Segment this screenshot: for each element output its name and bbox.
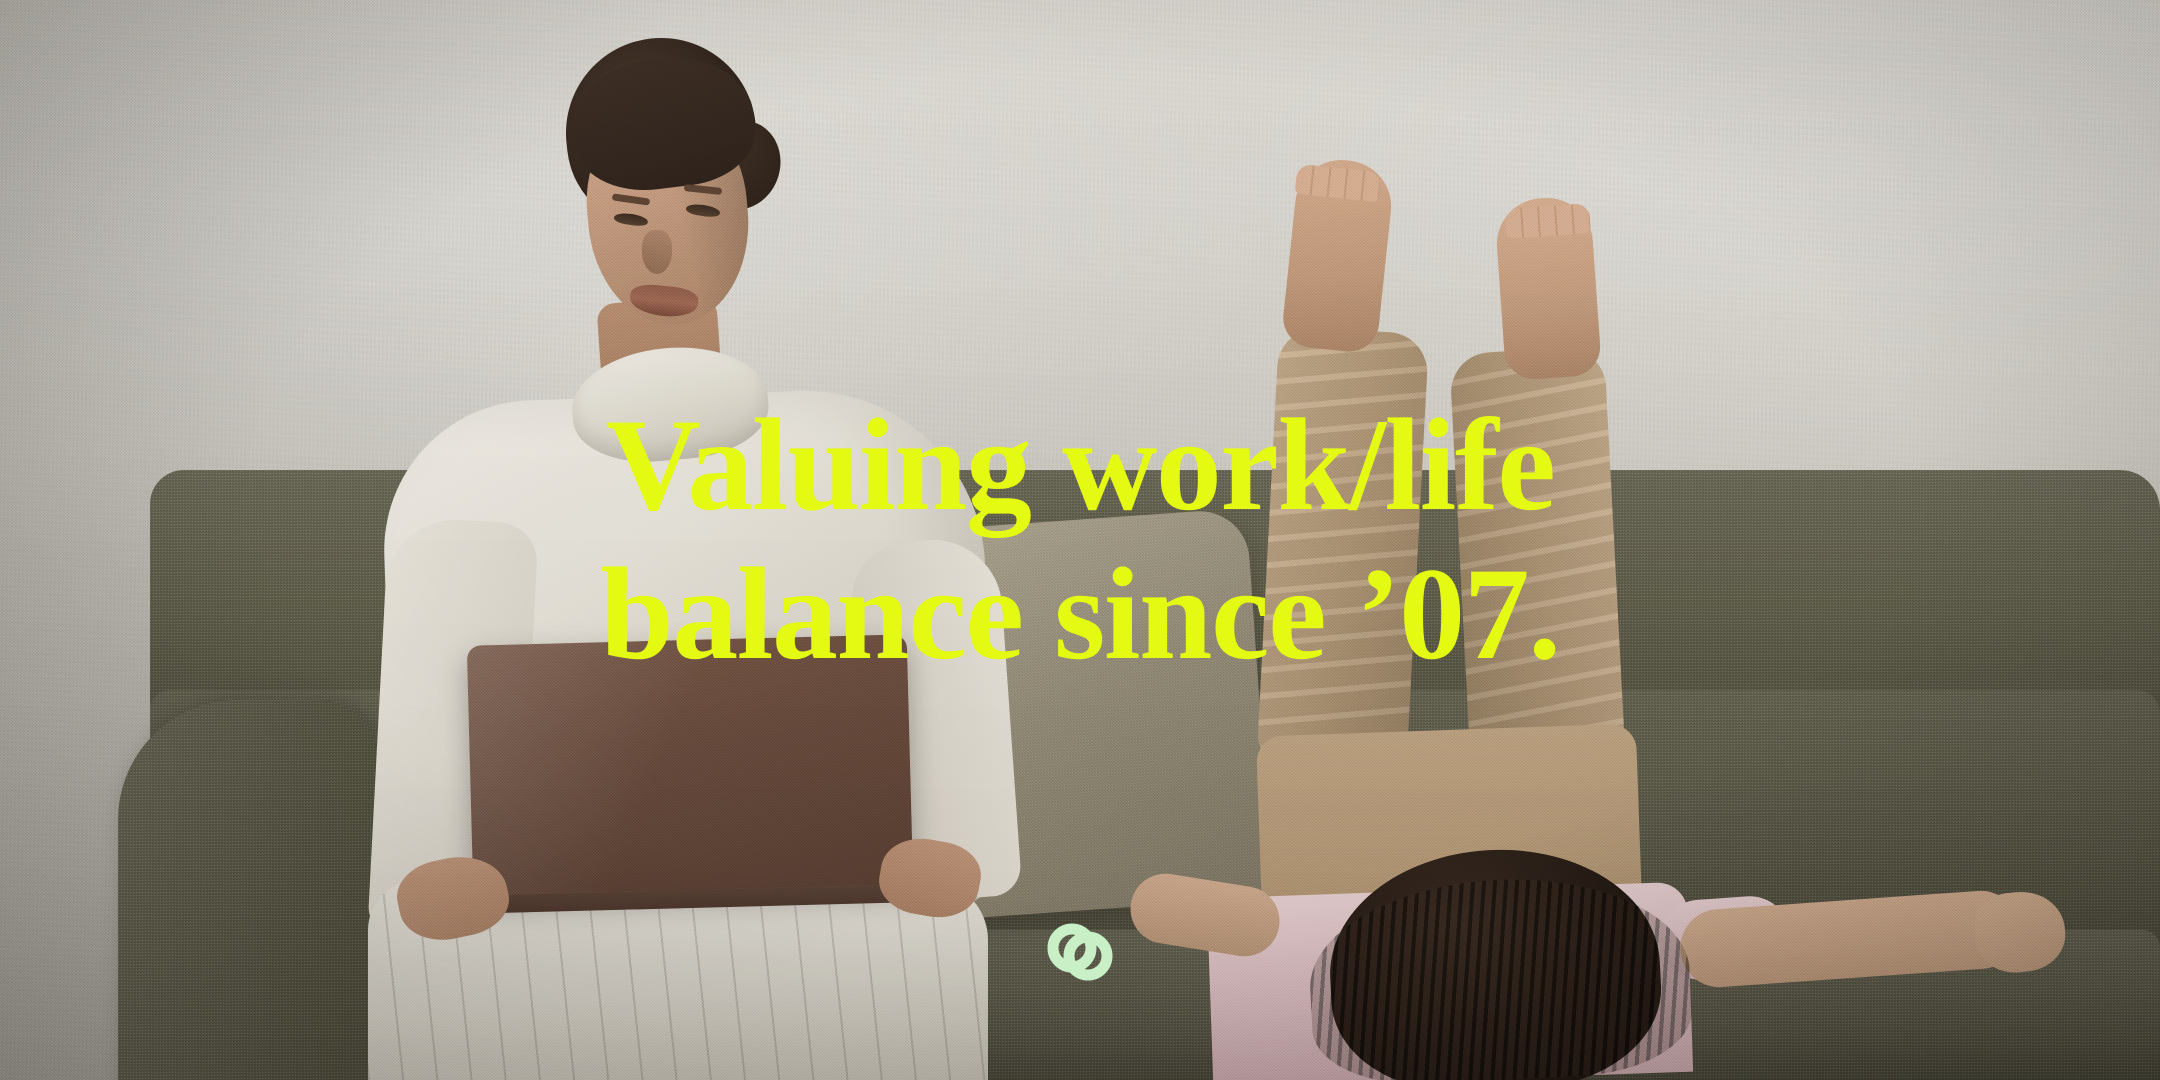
brand-logo[interactable]: [1044, 918, 1116, 986]
double-ring-icon: [1044, 918, 1116, 986]
hero-banner: Valuing work/life balance since ’07.: [0, 0, 2160, 1080]
